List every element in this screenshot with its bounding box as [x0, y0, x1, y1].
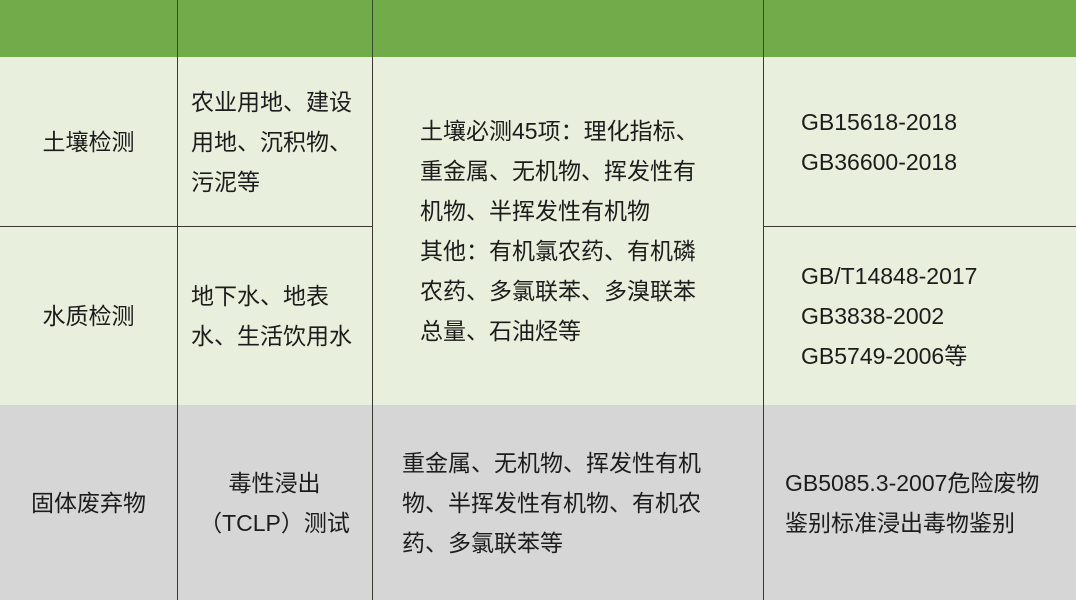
cell-scope-soil: 农业用地、建设用地、沉积物、污泥等	[177, 57, 372, 226]
cell-scope-solid-waste-text: 毒性浸出（TCLP）测试	[191, 463, 358, 543]
column-rule-1	[177, 57, 178, 600]
header-divider-2	[372, 0, 373, 57]
header-divider-1	[177, 0, 178, 57]
column-rule-2	[372, 57, 373, 600]
standard-item: GB3838-2002	[801, 296, 944, 336]
standard-item: GB/T14848-2017	[801, 256, 977, 296]
standard-item: GB5749-2006等	[801, 336, 967, 376]
standard-item: GB15618-2018	[801, 102, 957, 142]
cell-capability-line-2: 其他：有机氯农药、有机磷农药、多氯联苯、多溴联苯总量、石油烃等	[420, 231, 715, 351]
cell-scope-water-text: 地下水、地表水、生活饮用水	[191, 276, 358, 356]
row-rule-left	[0, 226, 372, 227]
cell-category-solid-waste: 固体废弃物	[31, 483, 146, 523]
table-row: 水质检测	[0, 226, 177, 405]
cell-capability-solid-waste: 重金属、无机物、挥发性有机物、半挥发性有机物、有机农药、多氯联苯等	[372, 405, 763, 600]
cell-scope-solid-waste: 毒性浸出（TCLP）测试	[177, 405, 372, 600]
table-header-row	[0, 0, 1076, 57]
cell-category-soil: 土壤检测	[43, 122, 135, 162]
cell-capability-solid-waste-text: 重金属、无机物、挥发性有机物、半挥发性有机物、有机农药、多氯联苯等	[402, 443, 733, 563]
standard-item: GB5085.3-2007危险废物鉴别标准浸出毒物鉴别	[785, 463, 1054, 543]
cell-category-water: 水质检测	[43, 296, 135, 336]
table-row: 土壤检测	[0, 57, 177, 226]
table-row: 固体废弃物	[0, 405, 177, 600]
cell-standards-soil: GB15618-2018 GB36600-2018	[763, 57, 1076, 226]
capability-table: 服务类别 检测范围 检测能力范围 质量标准 土壤检测 农业用地、建设用地、沉积物…	[0, 0, 1076, 600]
cell-capability-line-1: 土壤必测45项：理化指标、重金属、无机物、挥发性有机物、半挥发性有机物	[420, 111, 715, 231]
cell-scope-soil-text: 农业用地、建设用地、沉积物、污泥等	[191, 82, 358, 202]
column-rule-3	[763, 57, 764, 600]
cell-capability-soil-water: 土壤必测45项：理化指标、重金属、无机物、挥发性有机物、半挥发性有机物 其他：有…	[372, 57, 763, 405]
cell-standards-solid-waste: GB5085.3-2007危险废物鉴别标准浸出毒物鉴别	[763, 405, 1076, 600]
cell-scope-water: 地下水、地表水、生活饮用水	[177, 226, 372, 405]
cell-standards-water: GB/T14848-2017 GB3838-2002 GB5749-2006等	[763, 226, 1076, 405]
standard-item: GB36600-2018	[801, 142, 957, 182]
header-divider-3	[763, 0, 764, 57]
row-rule-right	[764, 226, 1076, 227]
